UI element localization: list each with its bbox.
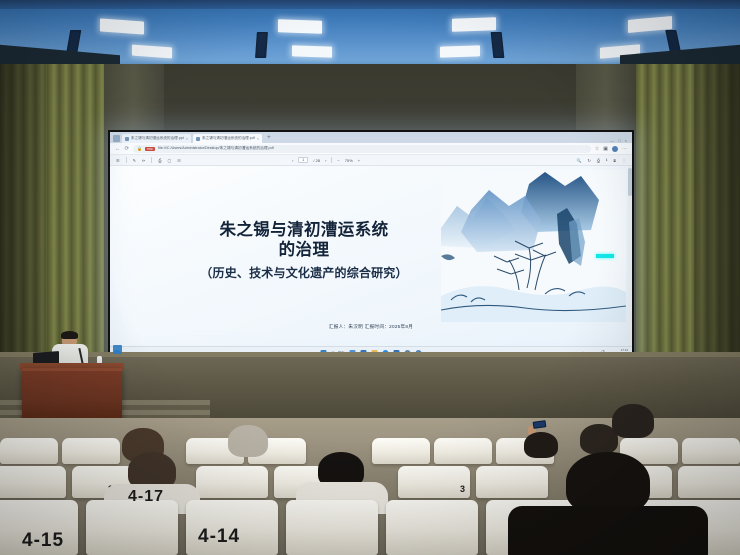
zoom-out-button[interactable]: − [337,158,339,163]
conference-hall-scene: 朱之锡与清初漕运系统的治理.ppt × 朱之锡与清初漕运系统的治理.pdf × … [0,0,740,555]
pdf-page-controls: ‹ 1 / 28 › − 75% + [292,157,360,163]
ceiling-light-panel [292,45,332,57]
seat [0,466,66,498]
slide-title-line-2: 的治理 [144,240,464,260]
browser-window: 朱之锡与清初漕运系统的治理.ppt × 朱之锡与清初漕运系统的治理.pdf × … [110,132,632,358]
rotate-icon[interactable]: ↻ [587,158,590,163]
seat [86,500,178,555]
draw-tool-icon[interactable]: ✏ [142,158,145,163]
toolbar-divider [151,157,152,163]
fullscreen-icon[interactable]: ⧈ [613,158,616,163]
tab-close-icon[interactable]: × [257,136,259,141]
toolbar-divider [331,157,332,163]
extensions-icon[interactable]: ▣ [603,146,608,152]
browser-address-bar: ← ⟳ 🔒 PDF file:///C:/Users/Administrator… [110,143,632,155]
pdf-viewer-toolbar: ☰ ✎ ✏ ⎙ ▢ ☷ ‹ 1 / 28 › − 75% + [110,155,632,166]
maximize-icon[interactable]: □ [618,138,620,143]
lock-icon: 🔒 [137,146,142,151]
wall-logo-icon [113,345,122,354]
more-icon[interactable]: ⋮ [622,158,626,163]
seat-number: 4-14 [198,526,240,548]
foreground-attendee-head [566,452,650,514]
browser-tab-1[interactable]: 朱之锡与清初漕运系统的治理.ppt × [122,134,191,143]
minimize-icon[interactable]: — [610,138,614,143]
close-icon[interactable]: × [625,138,627,143]
ceiling-light-panel [278,19,322,34]
toolbar-divider [126,157,127,163]
seat [386,500,478,555]
audience-member-head [228,425,268,457]
comment-tool-icon[interactable]: ☷ [177,158,181,163]
slide-title-line-1: 朱之锡与清初漕运系统 [144,220,464,240]
ceiling [0,0,740,72]
next-page-button[interactable]: › [325,158,326,163]
seat [372,438,430,464]
seat-number: 3 [460,484,465,494]
audience-member-head [612,404,654,438]
erase-tool-icon[interactable]: ▢ [168,158,172,163]
profile-avatar[interactable] [612,146,618,152]
search-icon[interactable]: 🔍 [576,158,581,163]
seat-number: 4-15 [22,530,64,552]
pdf-scrollbar-thumb[interactable] [628,168,632,196]
presentation-screen: 朱之锡与清初漕运系统的治理.ppt × 朱之锡与清初漕运系统的治理.pdf × … [108,130,634,360]
zoom-in-button[interactable]: + [358,158,360,163]
pdf-badge: PDF [145,147,155,151]
tab-favicon [125,137,129,141]
seat-number: 4-17 [128,488,164,506]
ceiling-light-panel [440,45,480,57]
page-number-input[interactable]: 1 [298,157,308,163]
slide-title-block: 朱之锡与清初漕运系统 的治理 （历史、技术与文化遗产的综合研究） [144,220,464,281]
reload-icon[interactable]: ⟳ [125,146,130,152]
curtain-shadow-right [694,64,740,364]
pdf-scrollbar[interactable] [628,166,632,346]
seat [62,438,120,464]
prev-page-button[interactable]: ‹ [292,158,293,163]
presenter-hair [61,331,78,339]
url-text: file:///C:/Users/Administrator/Desktop/朱… [158,146,274,151]
slide-subtitle: （历史、技术与文化遗产的综合研究） [144,264,464,281]
browser-tab-bar: 朱之锡与清初漕运系统的治理.ppt × 朱之锡与清初漕运系统的治理.pdf × … [110,132,632,143]
ceiling-light-panel [100,18,144,34]
seat [286,500,378,555]
chinese-ink-landscape-icon [441,170,626,322]
tab-close-icon[interactable]: × [186,136,188,141]
podium [22,368,122,424]
tab-favicon [196,137,200,141]
window-controls[interactable]: — □ × [610,138,629,143]
back-icon[interactable]: ← [115,146,121,152]
tab-title: 朱之锡与清初漕运系统的治理.ppt [131,136,184,141]
pdf-toolbar-right: 🔍 ↻ ⎙ ⭳ ⧈ ⋮ [576,157,626,164]
text-tool-icon[interactable]: ⎙ [158,158,161,163]
ceiling-light-panel [452,17,496,32]
sidebar-toggle-icon[interactable]: ☰ [116,158,120,163]
zoom-level-label: 75% [345,158,353,163]
ceiling-vent [491,32,505,58]
foreground-attendee-shoulders [508,506,708,555]
star-icon[interactable]: ☆ [595,146,599,152]
print-icon[interactable]: ⎙ [597,158,600,163]
seat [196,466,268,498]
curtain-shadow-left [0,64,46,364]
browser-app-icon [113,135,120,142]
seat [476,466,548,498]
ceiling-top-strip [0,0,740,9]
browser-tab-2[interactable]: 朱之锡与清初漕运系统的治理.pdf × [193,134,262,143]
highlight-tool-icon[interactable]: ✎ [133,158,136,163]
cyan-highlight-marker [596,254,614,258]
new-tab-button[interactable]: + [264,134,274,143]
seat [682,438,740,464]
ceiling-light-panel [132,45,172,59]
seat [0,438,58,464]
download-icon[interactable]: ⭳ [606,157,607,164]
seat [434,438,492,464]
browser-toolbar-icons: ☆ ▣ ⋯ [595,146,627,152]
slide-footer-credits: 汇报人：朱汉明 汇报时间：2025年8月 [110,324,632,330]
url-field[interactable]: 🔒 PDF file:///C:/Users/Administrator/Des… [133,145,591,153]
tab-title: 朱之锡与清初漕运系统的治理.pdf [202,136,255,141]
ceiling-vent [255,32,268,58]
seat [678,466,740,498]
stage-edge [0,352,740,357]
menu-icon[interactable]: ⋯ [622,146,627,152]
photographer-head [524,432,558,458]
pdf-slide-page: 朱之锡与清初漕运系统 的治理 （历史、技术与文化遗产的综合研究） 汇报人：朱汉明… [110,166,632,346]
page-total-label: / 28 [313,158,320,163]
